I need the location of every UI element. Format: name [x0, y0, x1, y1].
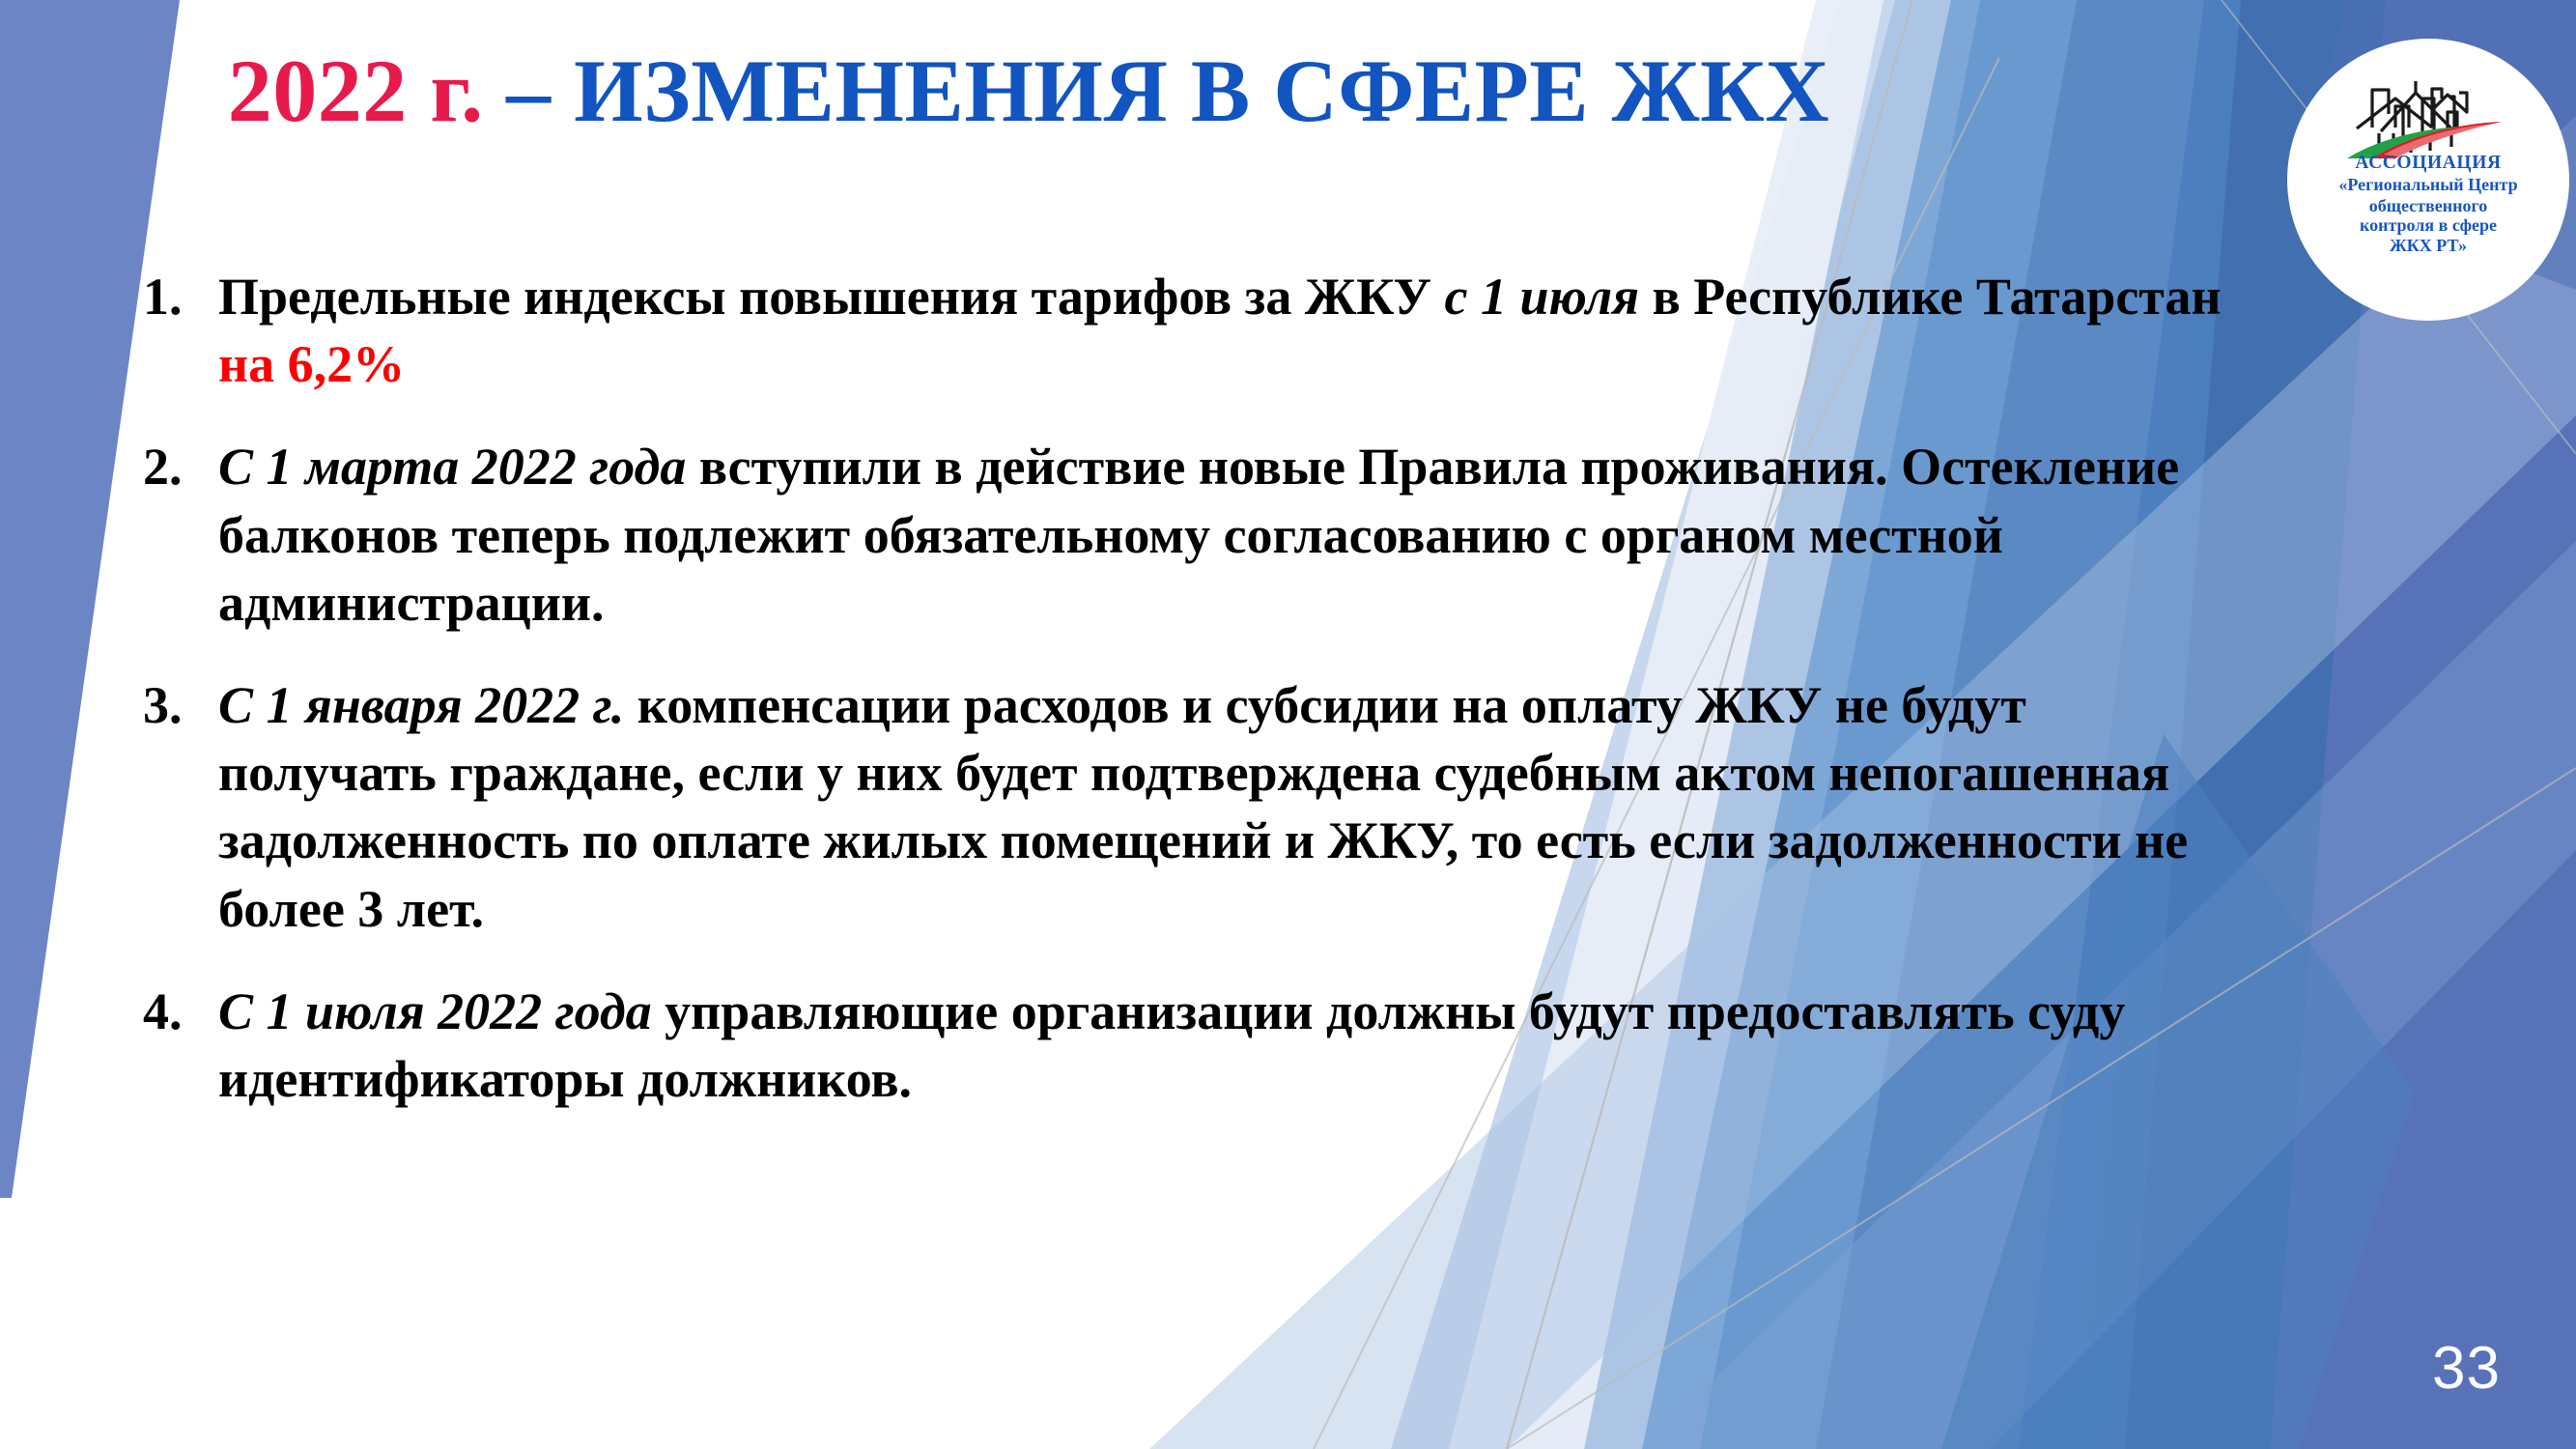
list-item: 1.Предельные индексы повышения тарифов з…: [143, 263, 2249, 398]
title-year: 2022 г.: [228, 42, 484, 140]
list-item: 4.С 1 июля 2022 года управляющие организ…: [143, 978, 2249, 1113]
logo-name-line-3: контроля в сфере: [2297, 215, 2560, 236]
logo-name-line-1: «Региональный Центр: [2297, 175, 2560, 195]
list-item-number: 4.: [143, 978, 218, 1045]
logo-name-line-4: ЖКХ РТ»: [2297, 236, 2560, 256]
list-item-text-run: С 1 июля 2022 года: [218, 982, 652, 1040]
list-item-text-run: на 6,2%: [218, 335, 405, 393]
page-title: 2022 г. – ИЗМЕНЕНИЯ В СФЕРЕ ЖКХ: [0, 46, 2057, 135]
list-item-text-run: Предельные индексы повышения тарифов за …: [218, 268, 1444, 326]
logo-text-block: АССОЦИАЦИЯ «Региональный Центр обществен…: [2297, 153, 2560, 255]
list-item-text: С 1 января 2022 г. компенсации расходов …: [218, 671, 2249, 943]
list-item-number: 1.: [143, 263, 218, 330]
list-item-text-run: в Республике Татарстан: [1639, 268, 2222, 326]
list-item-number: 3.: [143, 671, 218, 739]
title-main-text: ИЗМЕНЕНИЯ В СФЕРЕ ЖКХ: [574, 42, 1829, 140]
logo-association-label: АССОЦИАЦИЯ: [2297, 153, 2560, 174]
list-item-text: С 1 марта 2022 года вступили в действие …: [218, 433, 2249, 637]
presentation-slide: 2022 г. – ИЗМЕНЕНИЯ В СФЕРЕ ЖКХ 1.Предел…: [0, 0, 2576, 1449]
list-item-text: С 1 июля 2022 года управляющие организац…: [218, 978, 2249, 1113]
organization-logo: АССОЦИАЦИЯ «Региональный Центр обществен…: [2287, 39, 2569, 321]
list-item-text-run: с 1 июля: [1444, 268, 1639, 326]
list-item-text-run: С 1 января 2022 г.: [218, 676, 624, 734]
list-item: 3.С 1 января 2022 г. компенсации расходо…: [143, 671, 2249, 943]
list-item-text: Предельные индексы повышения тарифов за …: [218, 263, 2249, 398]
numbered-content-list: 1.Предельные индексы повышения тарифов з…: [143, 263, 2249, 1148]
logo-name-line-2: общественного: [2297, 196, 2560, 216]
list-item-text-run: С 1 марта 2022 года: [218, 438, 686, 496]
slide-number: 33: [2432, 1334, 2501, 1403]
list-item: 2.С 1 марта 2022 года вступили в действи…: [143, 433, 2249, 637]
title-dash: –: [484, 42, 575, 140]
list-item-number: 2.: [143, 433, 218, 500]
